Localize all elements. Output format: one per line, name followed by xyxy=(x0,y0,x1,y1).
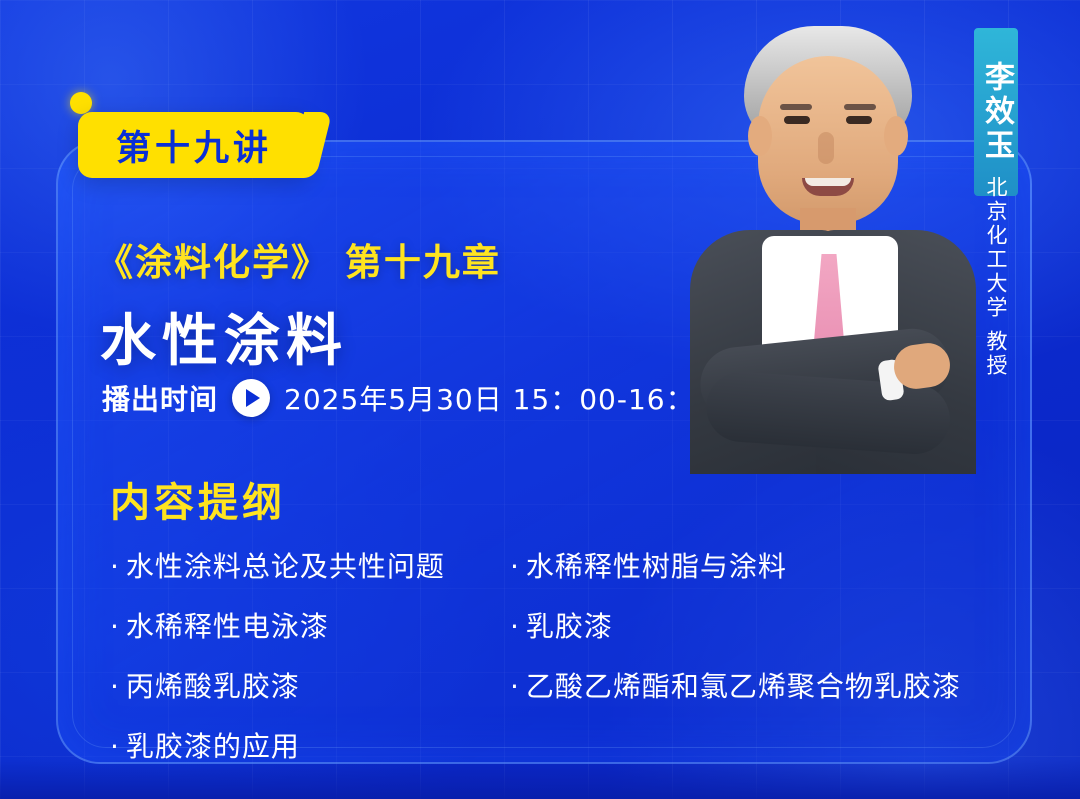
badge-dot-icon xyxy=(70,92,92,114)
speaker-affiliation-wrap: 北京化工大学 xyxy=(974,176,1018,320)
list-item: ·丙烯酸乳胶漆 xyxy=(110,665,510,705)
bullet-icon: · xyxy=(110,550,120,583)
bullet-icon: · xyxy=(510,670,520,703)
speaker-ear-left xyxy=(748,116,772,156)
speaker-rank: 教授 xyxy=(981,330,1011,378)
list-item-label: 水性涂料总论及共性问题 xyxy=(126,550,445,583)
speaker-figure xyxy=(666,8,986,468)
bullet-icon: · xyxy=(110,610,120,643)
speaker-name-plate: 李效玉 xyxy=(974,28,1018,196)
speaker-eye-right xyxy=(846,116,872,124)
speaker-brow-right xyxy=(844,104,876,110)
outline-column-right: ·水稀释性树脂与涂料 ·乳胶漆 ·乙酸乙烯酯和氯乙烯聚合物乳胶漆 xyxy=(510,545,1010,765)
list-item: ·水稀释性树脂与涂料 xyxy=(510,545,1010,585)
bullet-icon: · xyxy=(510,610,520,643)
lecture-poster: 第十九讲 《涂料化学》 第十九章 水性涂料 播出时间 2025年5月30日 15… xyxy=(0,0,1080,799)
speaker-nose xyxy=(818,132,834,164)
outline-column-left: ·水性涂料总论及共性问题 ·水稀释性电泳漆 ·丙烯酸乳胶漆 ·乳胶漆的应用 xyxy=(110,545,510,765)
list-item: ·水性涂料总论及共性问题 xyxy=(110,545,510,585)
list-item: ·乳胶漆 xyxy=(510,605,1010,645)
speaker-teeth xyxy=(805,178,851,186)
outline-columns: ·水性涂料总论及共性问题 ·水稀释性电泳漆 ·丙烯酸乳胶漆 ·乳胶漆的应用 ·水… xyxy=(110,545,1010,765)
list-item-label: 乳胶漆 xyxy=(526,610,613,643)
speaker-rank-wrap: 教授 xyxy=(974,330,1018,378)
list-item-label: 乙酸乙烯酯和氯乙烯聚合物乳胶漆 xyxy=(526,670,961,703)
list-item-label: 水稀释性电泳漆 xyxy=(126,610,329,643)
speaker-ear-right xyxy=(884,116,908,156)
play-icon[interactable] xyxy=(232,379,270,417)
list-item-label: 水稀释性树脂与涂料 xyxy=(526,550,787,583)
broadcast-time-label: 播出时间 xyxy=(102,378,218,418)
bullet-icon: · xyxy=(110,670,120,703)
bottom-gradient xyxy=(0,759,1080,799)
speaker-eye-left xyxy=(784,116,810,124)
chapter-badge: 第十九讲 xyxy=(78,112,310,178)
course-subtitle: 《涂料化学》 第十九章 xyxy=(96,232,501,286)
play-triangle xyxy=(246,389,260,407)
speaker-portrait xyxy=(650,0,1010,470)
chapter-badge-label: 第十九讲 xyxy=(116,120,272,171)
page-title: 水性涂料 xyxy=(100,296,348,377)
speaker-name: 李效玉 xyxy=(974,61,1018,163)
outline-title: 内容提纲 xyxy=(110,470,286,528)
list-item: ·水稀释性电泳漆 xyxy=(110,605,510,645)
list-item-label: 丙烯酸乳胶漆 xyxy=(126,670,300,703)
speaker-affiliation: 北京化工大学 xyxy=(981,176,1011,320)
speaker-brow-left xyxy=(780,104,812,110)
list-item: ·乙酸乙烯酯和氯乙烯聚合物乳胶漆 xyxy=(510,665,1010,705)
broadcast-time-row: 播出时间 2025年5月30日 15：00-16：00 xyxy=(102,378,732,418)
bullet-icon: · xyxy=(510,550,520,583)
